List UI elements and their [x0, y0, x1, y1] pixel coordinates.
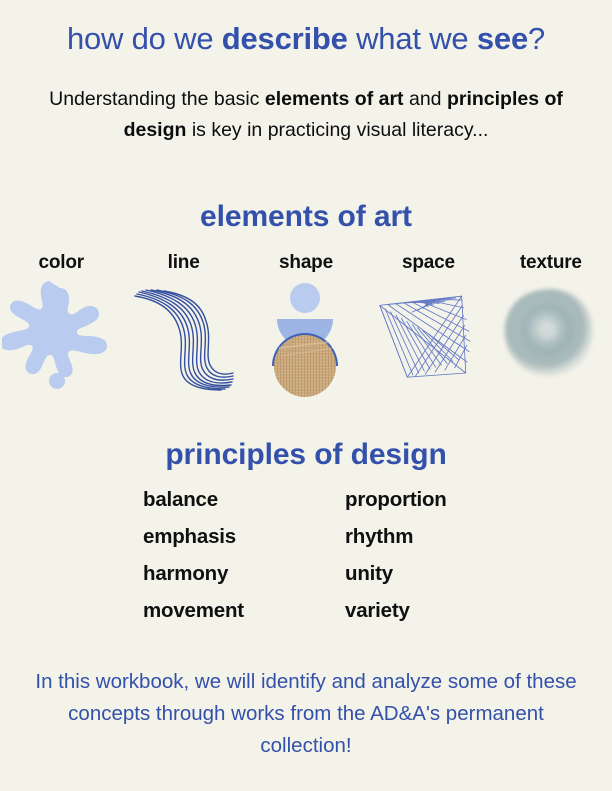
- principle-unity: unity: [345, 562, 393, 586]
- headline-bold-see: see: [477, 21, 528, 56]
- intro-text-3: is key in practicing visual literacy...: [186, 119, 488, 141]
- intro-text-2: and: [404, 88, 447, 110]
- principles-row: harmony unity: [0, 562, 612, 599]
- element-label-texture: texture: [520, 250, 582, 276]
- headline-bold-describe: describe: [222, 21, 348, 56]
- element-label-line: line: [168, 250, 200, 276]
- principles-row: emphasis rhythm: [0, 525, 612, 562]
- principles-row: movement variety: [0, 599, 612, 636]
- principles-of-design-list: balance proportion emphasis rhythm harmo…: [0, 488, 612, 636]
- intro-text-1: Understanding the basic: [49, 88, 265, 110]
- intro-paragraph: Understanding the basic elements of art …: [46, 84, 566, 146]
- element-item-texture: texture: [490, 250, 612, 402]
- principle-movement: movement: [143, 599, 345, 623]
- workbook-cover-page: how do we describe what we see? Understa…: [0, 0, 612, 791]
- intro-bold-elements-of-art: elements of art: [265, 88, 404, 110]
- headline-part-2: what we: [348, 21, 477, 56]
- elements-of-art-heading: elements of art: [0, 200, 612, 234]
- element-label-color: color: [38, 250, 83, 276]
- element-item-color: color: [0, 250, 122, 402]
- principle-emphasis: emphasis: [143, 525, 345, 549]
- flowing-lines-icon: [125, 280, 243, 402]
- headline-part-1: how do we: [67, 21, 222, 56]
- principle-proportion: proportion: [345, 488, 447, 512]
- footer-note: In this workbook, we will identify and a…: [20, 666, 592, 762]
- element-item-shape: shape: [245, 250, 367, 402]
- element-item-space: space: [367, 250, 489, 402]
- paint-splat-icon: [2, 280, 120, 402]
- page-title: how do we describe what we see?: [0, 20, 612, 58]
- perspective-grid-icon: [369, 280, 487, 402]
- elements-of-art-row: color line: [0, 250, 612, 402]
- principle-harmony: harmony: [143, 562, 345, 586]
- principle-balance: balance: [143, 488, 345, 512]
- element-item-line: line: [122, 250, 244, 402]
- principle-variety: variety: [345, 599, 410, 623]
- headline-part-3: ?: [528, 21, 545, 56]
- element-label-shape: shape: [279, 250, 333, 276]
- principles-row: balance proportion: [0, 488, 612, 525]
- principles-of-design-heading: principles of design: [0, 438, 612, 472]
- principle-rhythm: rhythm: [345, 525, 413, 549]
- stacked-shapes-icon: [247, 280, 365, 402]
- element-label-space: space: [402, 250, 455, 276]
- watercolor-blob-icon: [492, 280, 610, 402]
